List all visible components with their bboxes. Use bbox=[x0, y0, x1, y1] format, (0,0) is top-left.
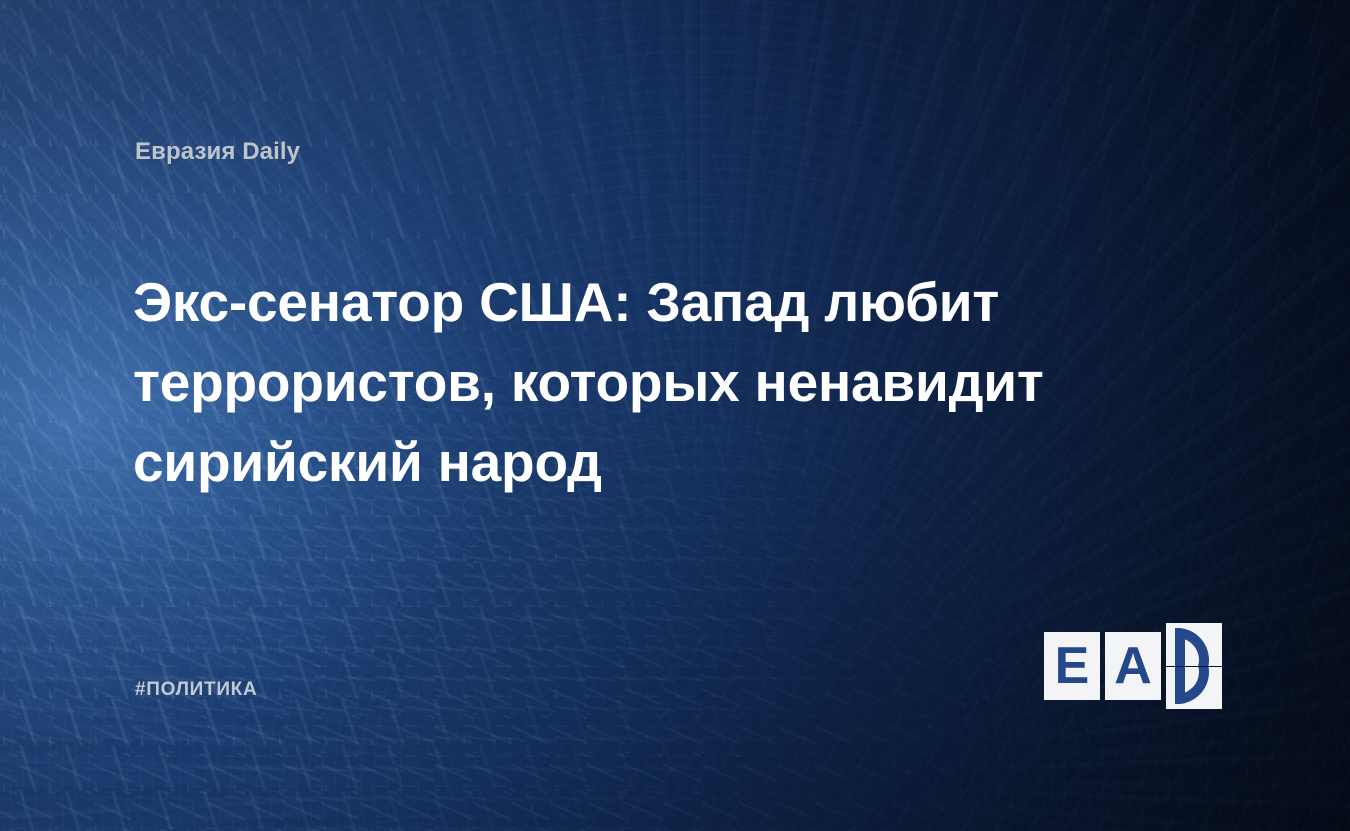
logo-tile-a: A bbox=[1105, 632, 1161, 700]
ead-logo[interactable]: E A bbox=[1044, 623, 1222, 709]
logo-d-glyph-upper bbox=[1175, 628, 1209, 666]
logo-tile-d-top bbox=[1166, 623, 1222, 666]
logo-tile-d-bottom bbox=[1166, 667, 1222, 709]
headline: Экс-сенатор США: Запад любит террористов… bbox=[133, 262, 1053, 502]
logo-tile-e: E bbox=[1044, 632, 1100, 700]
site-name: Евразия Daily bbox=[135, 138, 300, 166]
news-share-card: Евразия Daily Экс-сенатор США: Запад люб… bbox=[0, 0, 1350, 831]
card-content: Евразия Daily Экс-сенатор США: Запад люб… bbox=[0, 0, 1350, 831]
logo-d-glyph-lower bbox=[1175, 667, 1209, 704]
category-tag[interactable]: #ПОЛИТИКА bbox=[135, 679, 257, 701]
